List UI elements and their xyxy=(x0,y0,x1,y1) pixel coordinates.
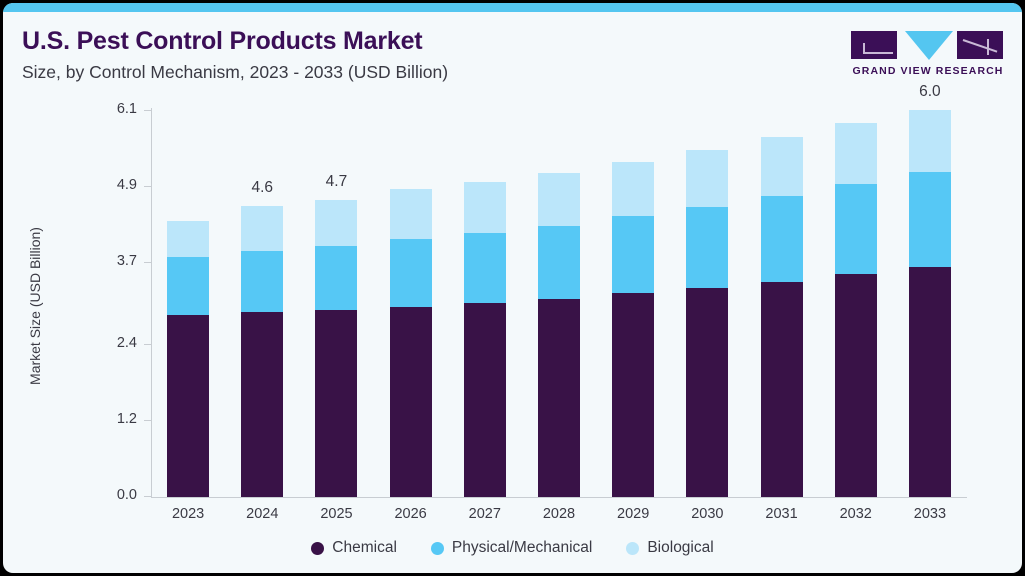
bar-group[interactable] xyxy=(241,206,283,497)
bar-segment-physical[interactable] xyxy=(761,196,803,281)
bar-value-label: 4.6 xyxy=(222,179,302,197)
bar-segment-biological[interactable] xyxy=(835,123,877,184)
bar-segment-biological[interactable] xyxy=(538,173,580,226)
bar-segment-biological[interactable] xyxy=(686,150,728,207)
bar-segment-chemical[interactable] xyxy=(167,315,209,497)
bar-segment-biological[interactable] xyxy=(612,162,654,216)
bar-segment-biological[interactable] xyxy=(167,221,209,257)
bar-segment-biological[interactable] xyxy=(241,206,283,251)
bar-segment-chemical[interactable] xyxy=(612,293,654,497)
bar-segment-physical[interactable] xyxy=(835,184,877,274)
x-tick-label: 2030 xyxy=(667,506,747,522)
x-tick-label: 2025 xyxy=(296,506,376,522)
bar-segment-physical[interactable] xyxy=(538,226,580,299)
x-tick-label: 2023 xyxy=(148,506,228,522)
x-tick-label: 2026 xyxy=(371,506,451,522)
bar-segment-biological[interactable] xyxy=(909,110,951,172)
bar-group[interactable] xyxy=(390,189,432,497)
plot-area: Market Size (USD Billion) 0.01.22.43.74.… xyxy=(3,3,1022,573)
x-tick-label: 2032 xyxy=(816,506,896,522)
bar-value-label: 4.7 xyxy=(296,173,376,191)
bar-segment-physical[interactable] xyxy=(390,239,432,306)
bar-segment-chemical[interactable] xyxy=(686,288,728,497)
bar-segment-biological[interactable] xyxy=(315,200,357,247)
bar-group[interactable] xyxy=(538,173,580,497)
bar-value-label: 6.0 xyxy=(890,83,970,101)
bar-group[interactable] xyxy=(167,221,209,497)
bar-group[interactable] xyxy=(909,110,951,497)
x-tick-label: 2031 xyxy=(742,506,822,522)
chart-card: U.S. Pest Control Products Market Size, … xyxy=(3,3,1022,573)
x-tick-label: 2028 xyxy=(519,506,599,522)
bar-group[interactable] xyxy=(315,200,357,497)
bar-group[interactable] xyxy=(686,150,728,497)
bar-segment-chemical[interactable] xyxy=(761,282,803,497)
chart-legend: ChemicalPhysical/MechanicalBiological xyxy=(3,539,1022,557)
bar-segment-biological[interactable] xyxy=(761,137,803,196)
legend-item[interactable]: Biological xyxy=(626,539,713,557)
bar-segment-physical[interactable] xyxy=(241,251,283,312)
bar-group[interactable] xyxy=(761,137,803,497)
bar-segment-chemical[interactable] xyxy=(315,310,357,497)
legend-color-swatch-icon xyxy=(311,542,324,555)
bar-segment-physical[interactable] xyxy=(315,246,357,309)
bar-group[interactable] xyxy=(464,182,506,497)
legend-color-swatch-icon xyxy=(626,542,639,555)
bar-segment-physical[interactable] xyxy=(909,172,951,267)
legend-item[interactable]: Chemical xyxy=(311,539,397,557)
bar-segment-chemical[interactable] xyxy=(835,274,877,497)
bar-segment-chemical[interactable] xyxy=(241,312,283,497)
bar-segment-chemical[interactable] xyxy=(390,307,432,497)
x-tick-label: 2027 xyxy=(445,506,525,522)
x-tick-label: 2029 xyxy=(593,506,673,522)
bar-segment-physical[interactable] xyxy=(167,257,209,315)
bar-segment-chemical[interactable] xyxy=(538,299,580,497)
bars-layer: 4.64.76.0 xyxy=(3,3,1022,573)
legend-label: Biological xyxy=(647,539,713,557)
bar-group[interactable] xyxy=(612,162,654,497)
bar-segment-biological[interactable] xyxy=(390,189,432,239)
legend-item[interactable]: Physical/Mechanical xyxy=(431,539,592,557)
bar-segment-chemical[interactable] xyxy=(464,303,506,497)
bar-segment-physical[interactable] xyxy=(464,233,506,303)
bar-segment-biological[interactable] xyxy=(464,182,506,233)
legend-label: Chemical xyxy=(332,539,397,557)
bar-segment-physical[interactable] xyxy=(612,216,654,293)
bar-group[interactable] xyxy=(835,123,877,497)
legend-label: Physical/Mechanical xyxy=(452,539,592,557)
x-tick-label: 2024 xyxy=(222,506,302,522)
x-tick-label: 2033 xyxy=(890,506,970,522)
bar-segment-physical[interactable] xyxy=(686,207,728,288)
legend-color-swatch-icon xyxy=(431,542,444,555)
bar-segment-chemical[interactable] xyxy=(909,267,951,497)
